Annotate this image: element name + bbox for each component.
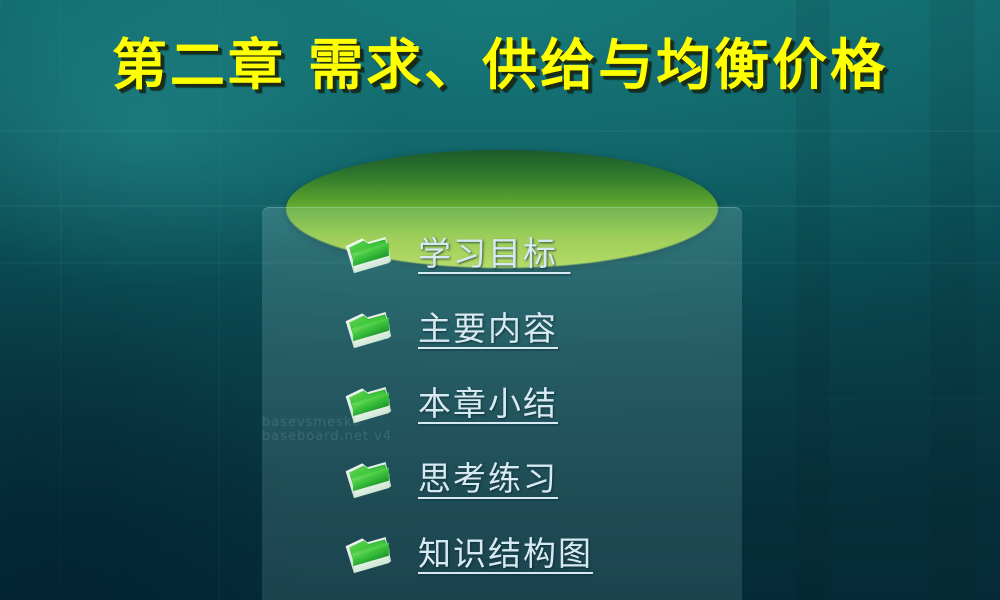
menu-item-label: 思考练习 — [418, 459, 558, 499]
menu-list: 学习目标 主要内容 — [262, 207, 742, 600]
menu-item-sikao-lianxi[interactable]: 思考练习 — [344, 450, 744, 508]
menu-item-benzhang-xiaojie[interactable]: 本章小结 — [344, 375, 744, 433]
menu-item-label: 本章小结 — [418, 384, 558, 424]
presentation-slide: 第二章 需求、供给与均衡价格 basevsmesko baseboard.net… — [0, 0, 1000, 600]
folder-icon — [344, 454, 396, 504]
folder-icon — [344, 304, 396, 354]
menu-item-zhuyao-neirong[interactable]: 主要内容 — [344, 300, 744, 358]
slide-title: 第二章 需求、供给与均衡价格 — [0, 33, 1000, 97]
folder-icon — [344, 229, 396, 279]
menu-item-label: 主要内容 — [418, 309, 558, 349]
menu-item-label: 知识结构图 — [418, 534, 593, 574]
folder-icon — [344, 379, 396, 429]
folder-icon — [344, 529, 396, 579]
menu-item-xuexi-mubiao[interactable]: 学习目标 — [344, 225, 744, 283]
menu-item-zhishi-jiegoutu[interactable]: 知识结构图 — [344, 525, 744, 583]
menu-item-label: 学习目标 — [418, 234, 571, 274]
background-shadow — [0, 300, 300, 600]
